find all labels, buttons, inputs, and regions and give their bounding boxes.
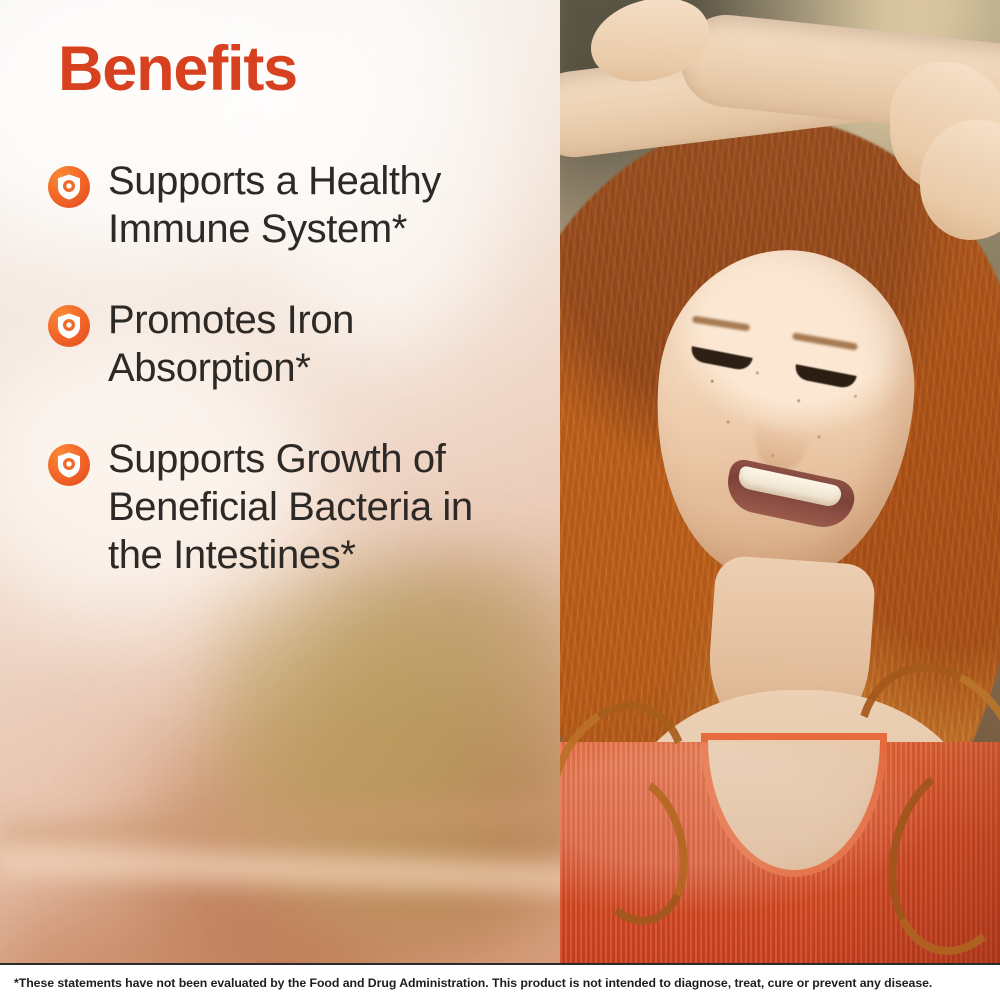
list-item-label: Supports a Healthy Immune System* (108, 157, 508, 254)
lifestyle-photo (560, 0, 1000, 963)
benefits-list: Supports a Healthy Immune System* Promot… (48, 157, 518, 622)
benefits-content: Benefits Supports a Healthy Immune Syste… (0, 0, 560, 963)
fda-disclaimer-text: *These statements have not been evaluate… (14, 976, 932, 990)
list-item: Supports a Healthy Immune System* (48, 157, 518, 254)
list-item-label: Supports Growth of Beneficial Bacteria i… (108, 435, 508, 580)
photo-color-grade (560, 0, 1000, 963)
list-item: Promotes Iron Absorption* (48, 296, 518, 393)
shield-check-icon (48, 444, 90, 486)
shield-check-icon (48, 166, 90, 208)
fda-disclaimer-bar: *These statements have not been evaluate… (0, 963, 1000, 1000)
page-title: Benefits (58, 38, 297, 101)
shield-check-icon (48, 305, 90, 347)
list-item-label: Promotes Iron Absorption* (108, 296, 508, 393)
product-benefits-banner: Benefits Supports a Healthy Immune Syste… (0, 0, 1000, 1000)
list-item: Supports Growth of Beneficial Bacteria i… (48, 435, 518, 580)
